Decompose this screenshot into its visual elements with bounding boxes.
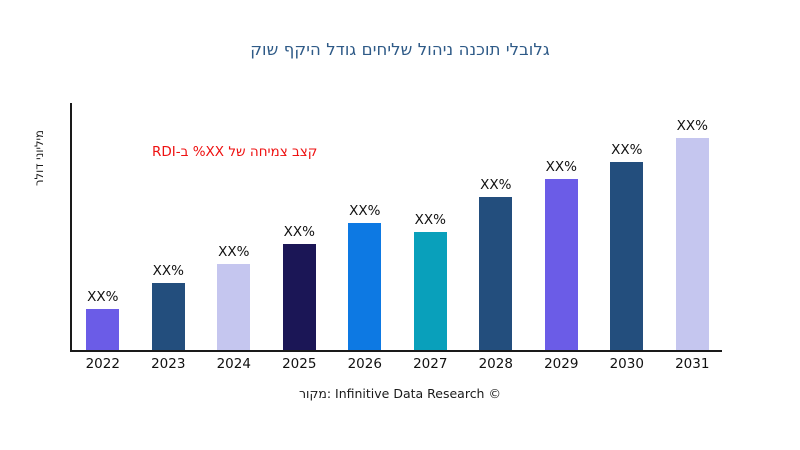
source-footer: © Infinitive Data Research :מקור xyxy=(0,386,800,401)
x-tick-2029: 2029 xyxy=(529,356,595,372)
bar-group: XX% xyxy=(414,105,447,350)
x-tick-2022: 2022 xyxy=(70,356,136,372)
bar-group: XX% xyxy=(283,105,316,350)
x-tick-2031: 2031 xyxy=(660,356,726,372)
x-tick-2028: 2028 xyxy=(463,356,529,372)
bar-group: XX% xyxy=(86,105,119,350)
bar[interactable] xyxy=(676,138,709,350)
x-axis-line xyxy=(70,350,722,352)
x-tick-2025: 2025 xyxy=(267,356,333,372)
bar-value-label: XX% xyxy=(218,244,249,260)
bar-value-label: XX% xyxy=(480,177,511,193)
bar-value-label: XX% xyxy=(546,159,577,175)
bar-value-label: XX% xyxy=(284,224,315,240)
bar-value-label: XX% xyxy=(415,212,446,228)
x-tick-2030: 2030 xyxy=(594,356,660,372)
x-tick-2023: 2023 xyxy=(136,356,202,372)
bar[interactable] xyxy=(152,283,185,350)
x-tick-2024: 2024 xyxy=(201,356,267,372)
bar-value-label: XX% xyxy=(349,203,380,219)
bar-group: XX% xyxy=(545,105,578,350)
bar[interactable] xyxy=(414,232,447,350)
bar-group: XX% xyxy=(676,105,709,350)
bar-group: XX% xyxy=(152,105,185,350)
bar[interactable] xyxy=(217,264,250,350)
y-axis-label: מיליוני דולר xyxy=(32,98,52,218)
bar[interactable] xyxy=(283,244,316,350)
bar-group: XX% xyxy=(610,105,643,350)
bar[interactable] xyxy=(545,179,578,350)
x-tick-2027: 2027 xyxy=(398,356,464,372)
bar[interactable] xyxy=(610,162,643,350)
bar-group: XX% xyxy=(348,105,381,350)
bar[interactable] xyxy=(479,197,512,350)
bar[interactable] xyxy=(86,309,119,350)
chart-figure: גלובלי תוכנה ניהול שליחים גודל היקף שוק … xyxy=(0,0,800,450)
bar-value-label: XX% xyxy=(87,289,118,305)
bar[interactable] xyxy=(348,223,381,350)
bar-value-label: XX% xyxy=(611,142,642,158)
page-title: גלובלי תוכנה ניהול שליחים גודל היקף שוק xyxy=(0,40,800,59)
bar-group: XX% xyxy=(479,105,512,350)
bar-group: XX% xyxy=(217,105,250,350)
bar-value-label: XX% xyxy=(153,263,184,279)
x-tick-2026: 2026 xyxy=(332,356,398,372)
bar-value-label: XX% xyxy=(677,118,708,134)
